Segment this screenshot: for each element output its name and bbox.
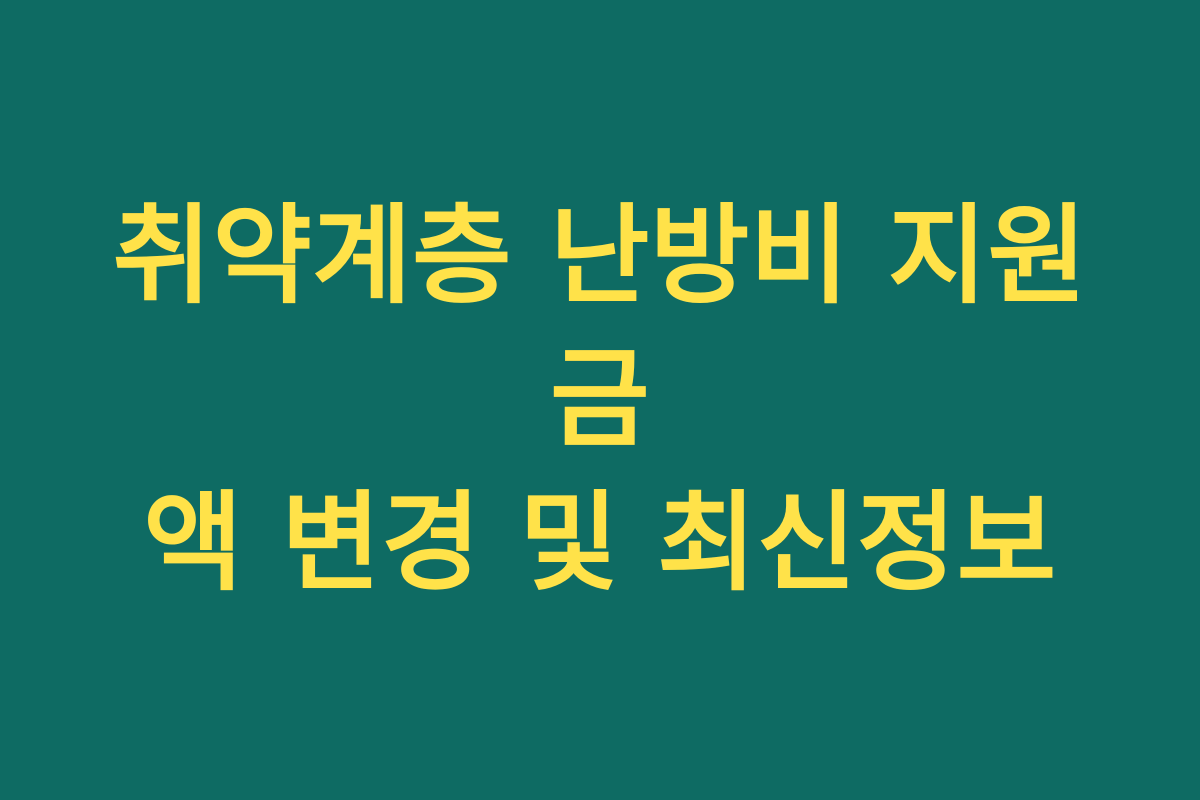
headline-line-1: 취약계층 난방비 지원 금 bbox=[70, 185, 1130, 472]
headline-line-2: 액 변경 및 최신정보 bbox=[70, 472, 1130, 616]
page-title: 취약계층 난방비 지원 금 액 변경 및 최신정보 bbox=[70, 185, 1130, 616]
text-banner: 취약계층 난방비 지원 금 액 변경 및 최신정보 bbox=[0, 0, 1200, 800]
